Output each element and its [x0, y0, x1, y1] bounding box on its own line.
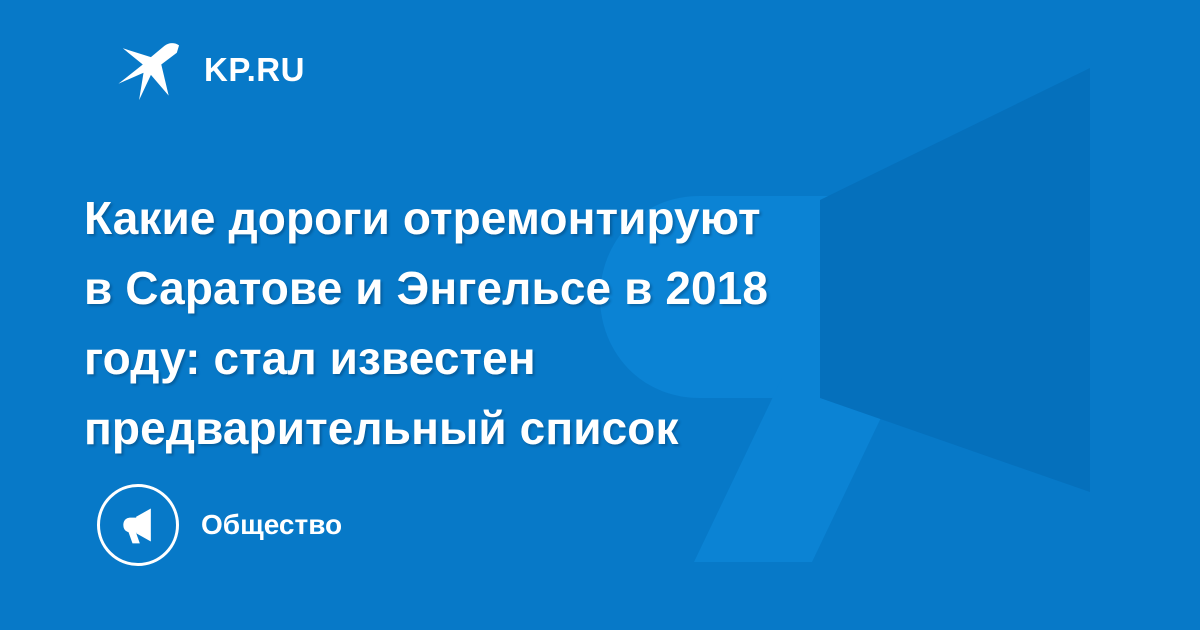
share-card: KP.RU Какие дороги отремонтируют в Сарат…	[0, 0, 1200, 630]
headline-line-3: году: стал известен	[84, 323, 984, 393]
headline-line-4: предварительный список	[84, 393, 984, 463]
category-icon-circle	[97, 484, 179, 566]
swallow-bird-icon	[108, 32, 182, 106]
page-title: Какие дороги отремонтируют в Саратове и …	[84, 183, 984, 463]
brand-name-label: KP.RU	[204, 53, 305, 86]
brand-logo[interactable]: KP.RU	[108, 30, 305, 108]
headline-line-1: Какие дороги отремонтируют	[84, 183, 984, 253]
category-badge[interactable]: Общество	[97, 479, 342, 571]
headline-line-2: в Саратове и Энгельсе в 2018	[84, 253, 984, 323]
category-label: Общество	[201, 511, 342, 539]
megaphone-icon	[116, 503, 160, 547]
